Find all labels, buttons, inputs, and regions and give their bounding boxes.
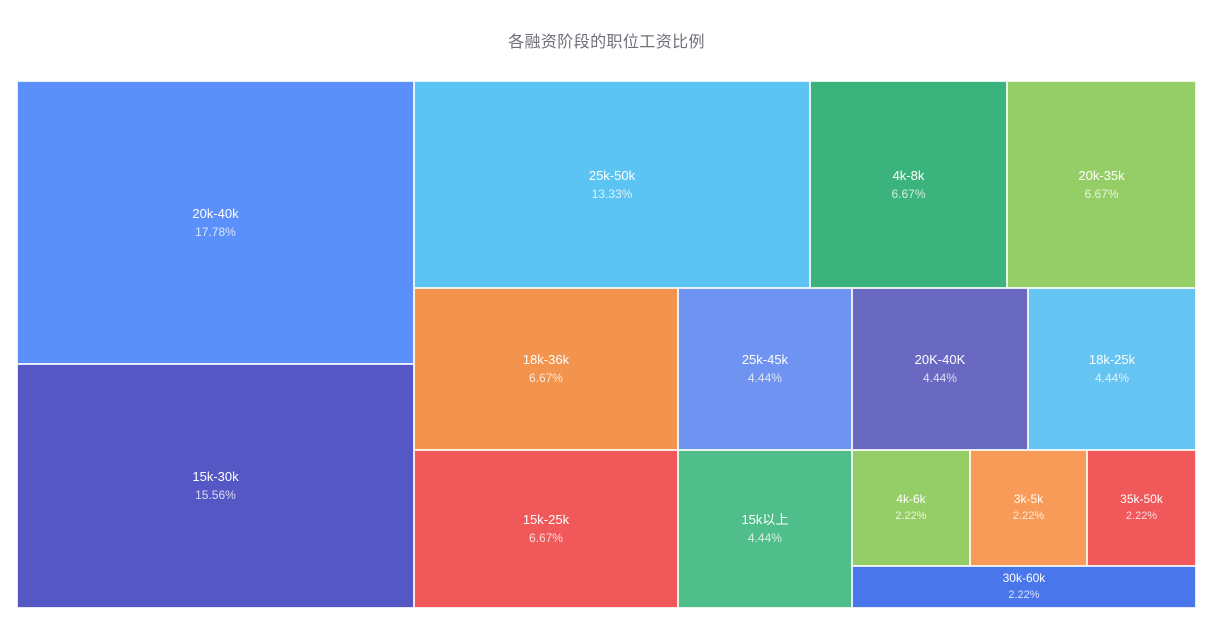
treemap-tile[interactable]: 25k-45k4.44% [678,288,852,450]
treemap-tile-value: 4.44% [923,369,957,387]
treemap-tile-label: 18k-25k [1089,350,1135,369]
treemap-tile-value: 2.22% [1013,508,1044,524]
treemap-tile-value: 13.33% [592,185,633,203]
treemap-tile-value: 2.22% [895,508,926,524]
treemap-tile-value: 6.67% [1084,185,1118,203]
treemap-tile-label: 3k-5k [1014,491,1043,508]
treemap-tile-value: 15.56% [195,486,236,504]
treemap-tile-label: 20k-40k [192,204,238,223]
treemap-tile[interactable]: 25k-50k13.33% [414,81,810,288]
treemap-tile-label: 25k-45k [742,350,788,369]
treemap-tile-label: 15k-30k [192,467,238,486]
treemap-tile[interactable]: 30k-60k2.22% [852,566,1196,608]
treemap-tile-value: 6.67% [891,185,925,203]
treemap-tile[interactable]: 18k-25k4.44% [1028,288,1196,450]
treemap-tile[interactable]: 20k-40k17.78% [17,81,414,364]
treemap-tile-label: 30k-60k [1003,570,1046,587]
treemap-tile-value: 2.22% [1126,508,1157,524]
treemap-tile[interactable]: 15k-25k6.67% [414,450,678,608]
treemap-tile-value: 4.44% [1095,369,1129,387]
treemap-tile-value: 4.44% [748,369,782,387]
treemap-tile[interactable]: 18k-36k6.67% [414,288,678,450]
treemap-tile-value: 6.67% [529,369,563,387]
treemap-tile[interactable]: 4k-8k6.67% [810,81,1007,288]
treemap-tile-label: 4k-8k [893,166,925,185]
treemap-tile-value: 17.78% [195,223,236,241]
treemap-tile-value: 6.67% [529,529,563,547]
treemap-tile-value: 2.22% [1008,587,1039,603]
treemap-tile[interactable]: 35k-50k2.22% [1087,450,1196,566]
treemap-tile-label: 4k-6k [896,491,925,508]
treemap-tile[interactable]: 15k-30k15.56% [17,364,414,608]
treemap-tile-label: 20k-35k [1078,166,1124,185]
treemap-tile-label: 18k-36k [523,350,569,369]
treemap-tile[interactable]: 20K-40K4.44% [852,288,1028,450]
treemap-tile-label: 15k-25k [523,510,569,529]
treemap-tile-value: 4.44% [748,529,782,547]
treemap-tile[interactable]: 15k以上4.44% [678,450,852,608]
treemap-tile[interactable]: 4k-6k2.22% [852,450,970,566]
treemap-chart: 20k-40k17.78%15k-30k15.56%25k-50k13.33%4… [17,81,1196,608]
chart-title: 各融资阶段的职位工资比例 [0,28,1213,52]
treemap-tile-label: 15k以上 [741,510,788,529]
treemap-tile-label: 35k-50k [1120,491,1163,508]
treemap-tile[interactable]: 20k-35k6.67% [1007,81,1196,288]
treemap-tile[interactable]: 3k-5k2.22% [970,450,1087,566]
treemap-tile-label: 20K-40K [915,350,966,369]
treemap-tile-label: 25k-50k [589,166,635,185]
